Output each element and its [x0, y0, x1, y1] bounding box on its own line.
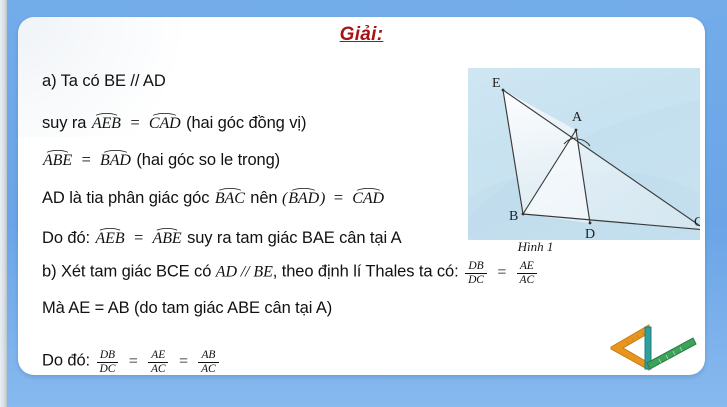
equals-sign: =	[178, 353, 189, 370]
fraction-ae-ac: AE AC	[148, 349, 169, 375]
fraction-denominator: DC	[465, 273, 487, 287]
solution-line-a-intro: a) Ta có BE // AD	[42, 72, 166, 91]
angle-aeb: AEB	[96, 227, 125, 248]
equals-sign: =	[133, 228, 144, 247]
equals-sign: =	[128, 353, 139, 370]
angle-bad: BAD	[288, 187, 319, 208]
fraction-db-dc: DB DC	[465, 260, 487, 287]
angle-abe: ABE	[43, 149, 72, 170]
phan-giac-prefix: AD là tia phân giác góc	[42, 189, 209, 207]
geometry-diagram: E A B D C	[468, 68, 700, 240]
line-b-prefix: b) Xét tam giác BCE có	[42, 263, 211, 281]
fraction-denominator: AC	[517, 273, 538, 287]
page-title: Giải:	[18, 24, 705, 46]
fraction-denominator: AC	[198, 362, 219, 375]
solution-line-abe-bad: ABE = BAD (hai góc so le trong)	[42, 149, 280, 170]
vertex-label-e: E	[492, 76, 501, 91]
fraction-ae-ac: AE AC	[517, 260, 538, 287]
geometry-figure-panel: E A B D C	[468, 68, 700, 240]
line-b-mid: , theo định lí Thales ta có:	[273, 263, 459, 281]
angle-bac: BAC	[215, 187, 245, 208]
fraction-numerator: AE	[517, 260, 538, 273]
abe-bad-suffix: (hai góc so le trong)	[136, 151, 280, 169]
vertex-label-b: B	[509, 209, 518, 224]
angle-cad: CAD	[352, 187, 384, 208]
equals-sign: =	[333, 188, 344, 207]
solution-line-final: Do đó: DB DC = AE AC = AB AC	[42, 349, 221, 375]
equals-sign: =	[129, 113, 140, 132]
solution-line-phan-giac: AD là tia phân giác góc BAC nên (BAD) = …	[42, 187, 385, 208]
fraction-denominator: AC	[148, 362, 169, 375]
angle-bad: BAD	[100, 149, 131, 170]
angle-abe: ABE	[153, 227, 182, 248]
solution-line-do-do: Do đó: AEB = ABE suy ra tam giác BAE cân…	[42, 227, 402, 248]
do-do-prefix: Do đó:	[42, 229, 90, 247]
solution-line-ma: Mà AE = AB (do tam giác ABE cân tại A)	[42, 299, 332, 318]
phan-giac-mid: nên	[250, 189, 277, 207]
vertex-label-a: A	[572, 110, 583, 125]
fraction-numerator: DB	[465, 260, 487, 273]
fraction-numerator: AE	[148, 349, 169, 362]
fraction-numerator: DB	[97, 349, 119, 362]
solution-line-b: b) Xét tam giác BCE có AD // BE, theo đị…	[42, 260, 539, 287]
suy-ra-prefix: suy ra	[42, 114, 86, 132]
parallel-expression: AD // BE	[216, 264, 273, 281]
figure-caption: Hình 1	[468, 239, 603, 255]
do-do-suffix: suy ra tam giác BAE cân tại A	[187, 229, 401, 247]
vertex-label-c: C	[694, 215, 700, 230]
suy-ra-suffix: (hai góc đồng vị)	[186, 114, 306, 132]
paren-close: )	[320, 190, 325, 207]
fraction-denominator: DC	[97, 362, 119, 375]
paren-open: (	[282, 190, 287, 207]
ruler-set-square-logo	[601, 311, 697, 373]
fraction-db-dc: DB DC	[97, 349, 119, 375]
fraction-numerator: AB	[198, 349, 219, 362]
solution-line-suy-ra: suy ra AEB = CAD (hai góc đồng vị)	[42, 112, 306, 133]
angle-aeb: AEB	[92, 112, 121, 133]
angle-cad: CAD	[149, 112, 181, 133]
slide-root: Giải: a) Ta có BE // AD suy ra AEB = CAD…	[0, 0, 727, 407]
left-edge-strip	[0, 0, 7, 407]
final-prefix: Do đó:	[42, 352, 90, 370]
content-card: Giải: a) Ta có BE // AD suy ra AEB = CAD…	[18, 17, 705, 375]
equals-sign: =	[81, 150, 92, 169]
equals-sign: =	[496, 264, 507, 281]
fraction-ab-ac: AB AC	[198, 349, 219, 375]
